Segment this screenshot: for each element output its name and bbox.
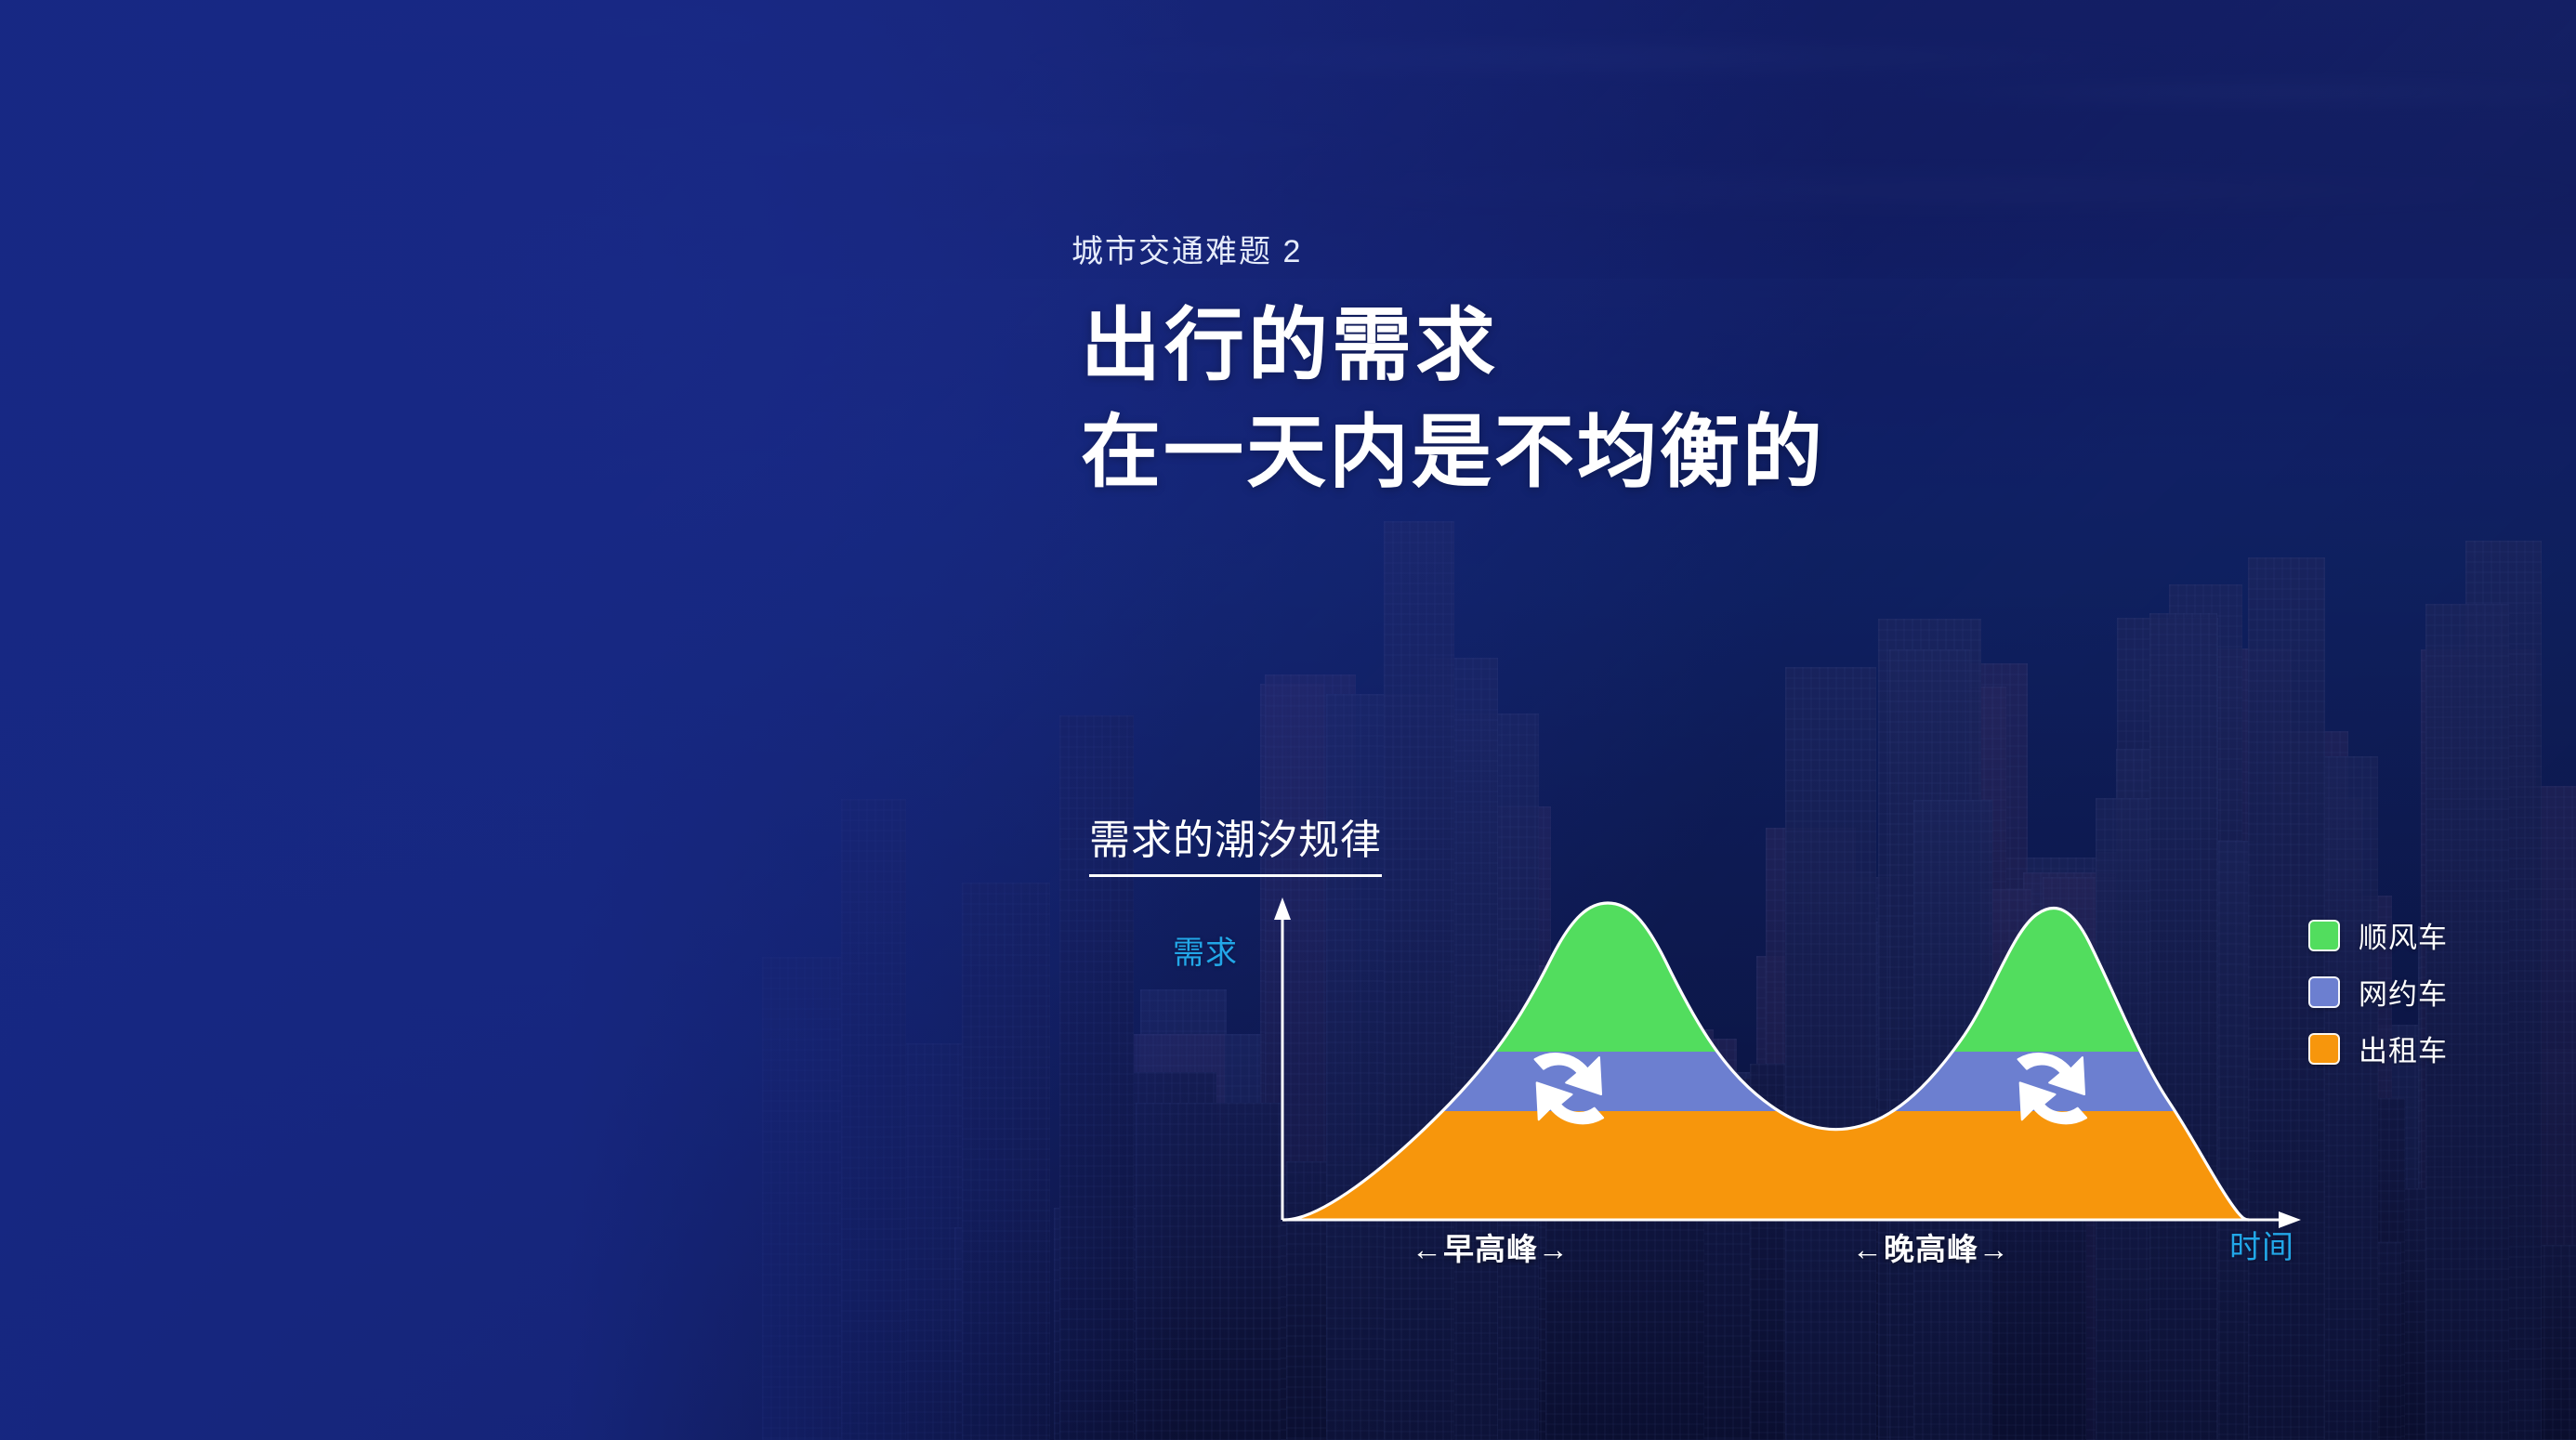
legend-swatch-carpool <box>2308 920 2340 951</box>
y-axis-label: 需求 <box>1173 927 1238 973</box>
legend-label-taxi: 出租车 <box>2359 1028 2448 1069</box>
chart-legend: 顺风车 网约车 出租车 <box>2308 914 2448 1069</box>
band-carpool <box>1273 892 2267 1052</box>
legend-label-carpool: 顺风车 <box>2359 914 2448 956</box>
legend-item-taxi[interactable]: 出租车 <box>2308 1028 2448 1069</box>
legend-label-ride-hailing: 网约车 <box>2359 971 2448 1013</box>
headline-line-2: 在一天内是不均衡的 <box>1081 404 1825 502</box>
page-title: 出行的需求 在一天内是不均衡的 <box>1081 297 1825 502</box>
headline-line-1: 出行的需求 <box>1081 301 1499 390</box>
legend-swatch-ride-hailing <box>2308 976 2340 1008</box>
legend-swatch-taxi <box>2308 1033 2340 1065</box>
band-taxi <box>1273 1111 2267 1223</box>
morning-peak-annotation: ←早高峰→ <box>1412 1224 1570 1269</box>
y-axis-arrow-icon <box>1274 897 1291 920</box>
stacked-area-bands <box>1273 892 2267 1223</box>
x-axis-label: 时间 <box>2229 1222 2294 1267</box>
evening-peak-annotation: ←晚高峰→ <box>1852 1224 2010 1269</box>
legend-item-ride-hailing[interactable]: 网约车 <box>2308 971 2448 1013</box>
eyebrow-label: 城市交通难题 2 <box>1071 226 1302 271</box>
demand-tide-chart <box>1143 892 2305 1254</box>
section-heading: 需求的潮汐规律 <box>1089 806 1382 877</box>
legend-item-carpool[interactable]: 顺风车 <box>2308 914 2448 956</box>
band-ride-hailing <box>1273 1052 2267 1111</box>
